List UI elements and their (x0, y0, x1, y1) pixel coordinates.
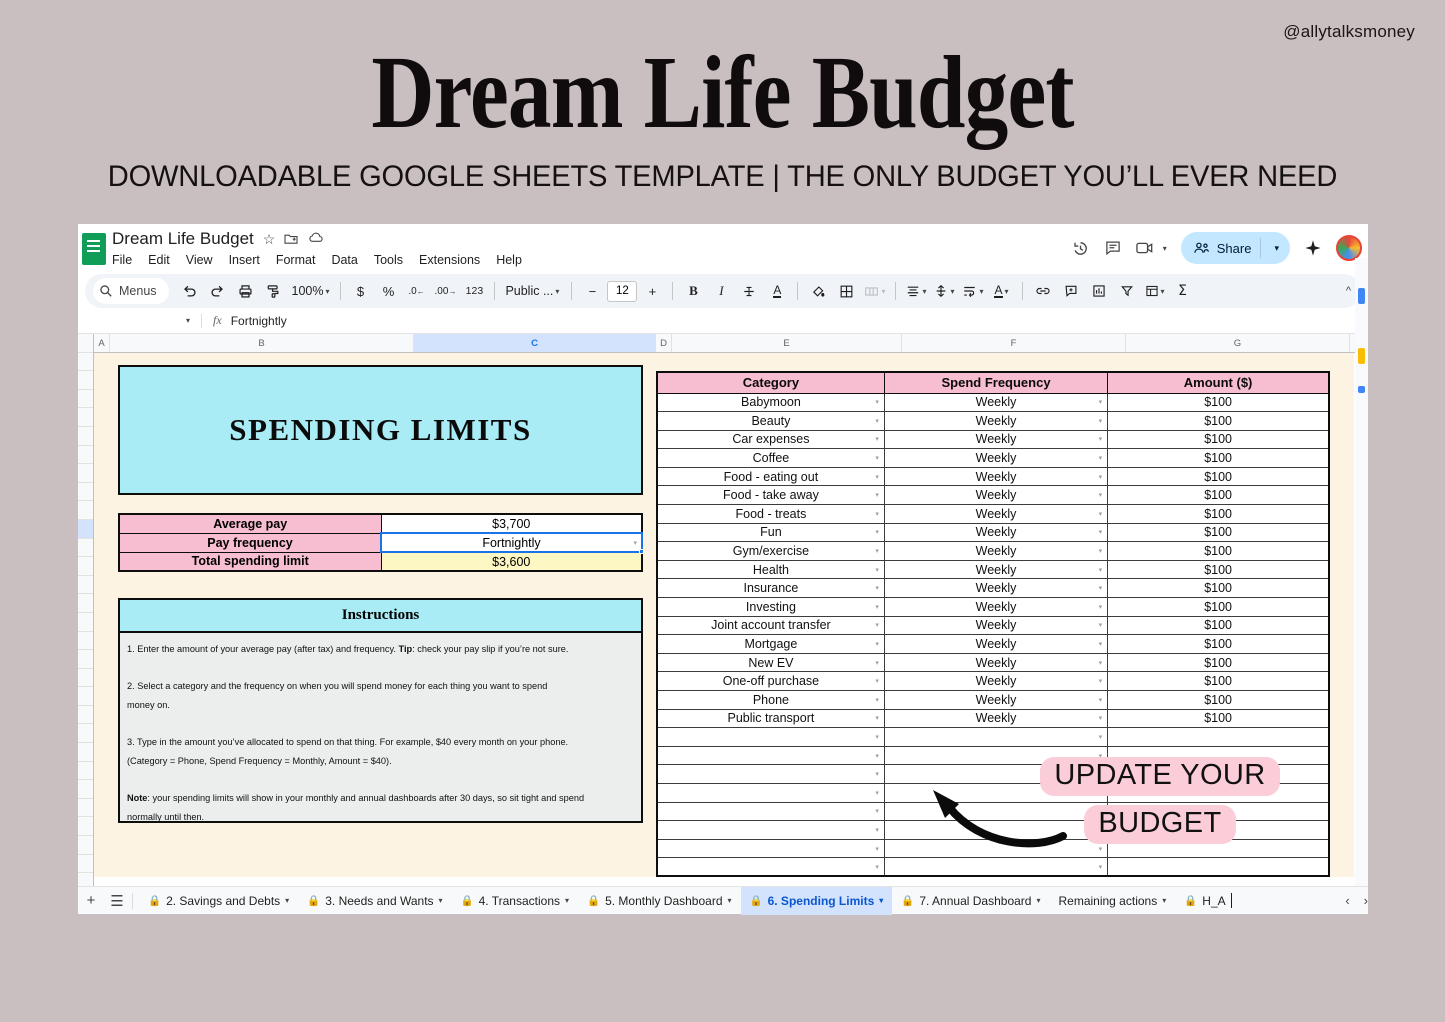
cell-amount[interactable]: $100 (1108, 542, 1329, 561)
cell-category-text: Food - treats (735, 507, 806, 521)
gemini-spark-icon[interactable] (1304, 239, 1322, 257)
chevron-down-icon-frequency[interactable]: ▾ (1099, 640, 1103, 648)
row-header[interactable] (78, 799, 93, 818)
cell-amount[interactable]: $100 (1108, 598, 1329, 617)
chevron-down-icon-category[interactable]: ▾ (875, 826, 879, 834)
chevron-down-icon-rot: ▾ (1005, 287, 1009, 296)
row-header[interactable] (78, 650, 93, 669)
sheet-tab-label: 7. Annual Dashboard (919, 894, 1031, 908)
cell-category[interactable]: Phone▾ (657, 691, 884, 710)
pay-frequency-value: Fortnightly (482, 536, 540, 550)
chevron-down-icon-payfreq[interactable]: ▾ (633, 539, 637, 547)
cell-amount[interactable]: $100 (1108, 635, 1329, 654)
minimap-rail[interactable] (1355, 258, 1368, 908)
cell-frequency[interactable]: Weekly▾ (884, 505, 1107, 524)
search-menus-label: Menus (119, 284, 157, 298)
instruction-line-1: 1. Enter the amount of your average pay … (127, 640, 634, 659)
redo-icon[interactable] (205, 278, 231, 304)
table-row[interactable]: Food - eating out▾Weekly▾$100 (657, 467, 1329, 486)
instructions-body: 1. Enter the amount of your average pay … (120, 633, 641, 827)
functions-button[interactable]: Σ (1170, 278, 1196, 304)
link-icon[interactable] (1030, 278, 1056, 304)
chevron-down-icon-frequency[interactable]: ▾ (1099, 714, 1103, 722)
sheet-tab[interactable]: 🔒5. Monthly Dashboard▾ (578, 887, 741, 915)
chevron-down-icon-category[interactable]: ▾ (875, 566, 879, 574)
cell-frequency-text: Weekly (976, 432, 1017, 446)
table-header-row: Category Spend Frequency Amount ($) (657, 372, 1329, 393)
cell-category-text: Gym/exercise (733, 544, 809, 558)
lock-icon: 🔒 (901, 894, 914, 907)
cell-category[interactable]: New EV▾ (657, 653, 884, 672)
cell-frequency[interactable]: Weekly▾ (884, 430, 1107, 449)
table-row[interactable]: Phone▾Weekly▾$100 (657, 691, 1329, 710)
toolbar-divider-4 (672, 282, 673, 300)
row-header[interactable] (78, 780, 93, 799)
col-header-f[interactable]: F (902, 334, 1126, 352)
cell-frequency[interactable]: Weekly▾ (884, 709, 1107, 728)
table-row[interactable]: Babymoon▾Weekly▾$100 (657, 393, 1329, 412)
cell-category[interactable]: Food - take away▾ (657, 486, 884, 505)
cell-category[interactable]: ▾ (657, 728, 884, 747)
chevron-down-icon-category[interactable]: ▾ (875, 473, 879, 481)
chevron-down-icon-tab[interactable]: ▾ (1162, 896, 1166, 905)
cell-frequency[interactable]: Weekly▾ (884, 412, 1107, 431)
table-row[interactable]: Mortgage▾Weekly▾$100 (657, 635, 1329, 654)
cell-category[interactable]: Babymoon▾ (657, 393, 884, 412)
cell-category[interactable]: ▾ (657, 802, 884, 821)
cell-category[interactable]: Car expenses▾ (657, 430, 884, 449)
row-header[interactable] (78, 539, 93, 558)
cell-amount[interactable]: $100 (1108, 616, 1329, 635)
name-box-caret-icon[interactable]: ▾ (186, 316, 190, 325)
zoom-level-button[interactable]: 100% ▾ (289, 278, 333, 304)
cell-frequency-text: Weekly (976, 674, 1017, 688)
cell-frequency-text: Weekly (976, 544, 1017, 558)
italic-button[interactable]: I (708, 278, 734, 304)
cell-amount[interactable]: $100 (1108, 412, 1329, 431)
pay-frequency-label: Pay frequency (119, 533, 381, 552)
table-row[interactable]: Investing▾Weekly▾$100 (657, 598, 1329, 617)
row-header[interactable] (78, 576, 93, 595)
chevron-down-icon-tab[interactable]: ▾ (285, 896, 289, 905)
table-row[interactable]: Gym/exercise▾Weekly▾$100 (657, 542, 1329, 561)
chevron-down-icon-frequency[interactable]: ▾ (1099, 417, 1103, 425)
instructions-card: Instructions 1. Enter the amount of your… (118, 598, 643, 823)
chevron-down-icon-category[interactable]: ▾ (875, 584, 879, 592)
cell-amount[interactable]: $100 (1108, 393, 1329, 412)
chevron-down-icon-category[interactable]: ▾ (875, 528, 879, 536)
chevron-down-icon-frequency[interactable]: ▾ (1099, 621, 1103, 629)
toolbar-divider-5 (797, 282, 798, 300)
strikethrough-button[interactable] (736, 278, 762, 304)
chevron-down-icon-category[interactable]: ▾ (875, 603, 879, 611)
cell-frequency[interactable]: Weekly▾ (884, 523, 1107, 542)
row-header[interactable] (78, 446, 93, 465)
pay-frequency-select[interactable]: Fortnightly ▾ (381, 533, 642, 552)
cell-frequency-text: Weekly (976, 711, 1017, 725)
chevron-down-icon-category[interactable]: ▾ (875, 863, 879, 871)
all-sheets-icon[interactable]: ☰ (104, 892, 130, 910)
cell-frequency[interactable]: Weekly▾ (884, 616, 1107, 635)
cell-amount[interactable]: $100 (1108, 709, 1329, 728)
chevron-down-icon-category[interactable]: ▾ (875, 807, 879, 815)
text-cursor (1231, 893, 1232, 908)
cell-amount[interactable]: $100 (1108, 467, 1329, 486)
cell-frequency[interactable]: Weekly▾ (884, 467, 1107, 486)
menu-format[interactable]: Format (276, 253, 316, 267)
sheets-logo-icon (82, 233, 106, 265)
font-family-select[interactable]: Public ... ▾ (502, 278, 564, 304)
sheet-tab[interactable]: Remaining actions▾ (1049, 887, 1175, 915)
chevron-down-icon-tab[interactable]: ▾ (565, 896, 569, 905)
table-row[interactable]: ▾▾ (657, 728, 1329, 747)
table-row[interactable]: ▾▾ (657, 858, 1329, 877)
star-icon[interactable]: ☆ (263, 232, 276, 246)
chevron-down-icon-frequency[interactable]: ▾ (1099, 696, 1103, 704)
chevron-down-icon-frequency[interactable]: ▾ (1099, 677, 1103, 685)
cell-amount[interactable]: $100 (1108, 579, 1329, 598)
cell-category[interactable]: One-off purchase▾ (657, 672, 884, 691)
document-title[interactable]: Dream Life Budget (112, 229, 254, 249)
chevron-down-icon-frequency[interactable]: ▾ (1099, 603, 1103, 611)
chevron-down-icon-frequency[interactable]: ▾ (1099, 584, 1103, 592)
zoom-level-label: 100% (292, 284, 324, 298)
cell-amount[interactable]: $100 (1108, 449, 1329, 468)
decrease-decimal-label: .0 (408, 286, 416, 297)
cell-frequency[interactable]: Weekly▾ (884, 393, 1107, 412)
cell-category[interactable]: ▾ (657, 765, 884, 784)
cell-category[interactable]: Fun▾ (657, 523, 884, 542)
cell-category[interactable]: Beauty▾ (657, 412, 884, 431)
row-header[interactable] (78, 613, 93, 632)
sheet-tab-label: 4. Transactions (479, 894, 560, 908)
menu-data[interactable]: Data (331, 253, 357, 267)
spending-limits-title: SPENDING LIMITS (229, 412, 531, 448)
chevron-down-icon-frequency[interactable]: ▾ (1099, 473, 1103, 481)
horizontal-align-icon[interactable]: ▾ (903, 278, 929, 304)
text-wrap-icon[interactable]: ▾ (959, 278, 986, 304)
chevron-down-icon-category[interactable]: ▾ (875, 398, 879, 406)
share-divider (1260, 238, 1261, 258)
chevron-down-icon-category[interactable]: ▾ (875, 659, 879, 667)
chevron-down-icon-valign: ▾ (950, 287, 954, 296)
col-header-d[interactable]: D (656, 334, 672, 352)
table-row[interactable]: Insurance▾Weekly▾$100 (657, 579, 1329, 598)
fill-color-icon[interactable] (805, 278, 831, 304)
format-currency-button[interactable]: $ (348, 278, 374, 304)
chevron-down-icon-category[interactable]: ▾ (875, 789, 879, 797)
cell-amount[interactable]: $100 (1108, 486, 1329, 505)
cell-frequency[interactable]: Weekly▾ (884, 560, 1107, 579)
chevron-down-icon-category[interactable]: ▾ (875, 677, 879, 685)
cell-amount[interactable]: $100 (1108, 523, 1329, 542)
formula-input[interactable]: Fortnightly (231, 314, 287, 328)
cell-category[interactable]: ▾ (657, 839, 884, 858)
cell-category[interactable]: Food - treats▾ (657, 505, 884, 524)
paint-format-icon[interactable] (261, 278, 287, 304)
cell-frequency[interactable]: Weekly▾ (884, 542, 1107, 561)
chevron-down-icon-frequency[interactable]: ▾ (1099, 566, 1103, 574)
column-headers[interactable]: A B C D E F G (94, 334, 1368, 353)
instructions-heading: Instructions (120, 600, 641, 633)
cell-amount[interactable]: $100 (1108, 560, 1329, 579)
cell-frequency-text: Weekly (976, 414, 1017, 428)
chevron-down-icon-category[interactable]: ▾ (875, 733, 879, 741)
font-size-input[interactable]: 12 (607, 281, 637, 302)
cell-category[interactable]: Mortgage▾ (657, 635, 884, 654)
cell-category[interactable]: Joint account transfer▾ (657, 616, 884, 635)
prev-tab-button[interactable]: ‹ (1345, 893, 1349, 908)
toolbar-divider-7 (1022, 282, 1023, 300)
cell-frequency[interactable]: Weekly▾ (884, 691, 1107, 710)
spending-limits-title-card: SPENDING LIMITS (118, 365, 643, 495)
increase-decimal-label: .00 (435, 286, 449, 297)
row-header[interactable] (78, 557, 93, 576)
row-header[interactable] (78, 669, 93, 688)
row-header[interactable] (78, 427, 93, 446)
table-row[interactable]: Joint account transfer▾Weekly▾$100 (657, 616, 1329, 635)
formula-divider (201, 314, 202, 328)
borders-icon[interactable] (833, 278, 859, 304)
menu-tools[interactable]: Tools (374, 253, 403, 267)
comment-icon[interactable] (1104, 239, 1122, 257)
pivot-icon[interactable]: ▾ (1142, 278, 1168, 304)
cell-amount[interactable] (1108, 728, 1329, 747)
toolbar-divider-6 (895, 282, 896, 300)
cell-category[interactable]: ▾ (657, 821, 884, 840)
chevron-down-icon-tab[interactable]: ▾ (439, 896, 443, 905)
row-header[interactable] (78, 501, 93, 520)
share-caret-icon[interactable]: ▾ (1270, 243, 1288, 254)
sheet-tab[interactable]: 🔒H_A (1175, 887, 1231, 915)
cell-frequency[interactable]: Weekly▾ (884, 598, 1107, 617)
tab-navigation: ‹ › (1345, 893, 1368, 908)
row-header[interactable] (78, 483, 93, 502)
row-headers[interactable] (78, 334, 94, 887)
row-header[interactable] (78, 762, 93, 781)
increase-decimal-button[interactable]: .00→ (432, 278, 460, 304)
row-header[interactable] (78, 687, 93, 706)
chevron-down-icon-category[interactable]: ▾ (875, 845, 879, 853)
merge-cells-icon[interactable]: ▾ (861, 278, 888, 304)
sheet-tab[interactable]: 🔒7. Annual Dashboard▾ (892, 887, 1049, 915)
table-row[interactable]: Coffee▾Weekly▾$100 (657, 449, 1329, 468)
sheet-tab[interactable]: 🔒2. Savings and Debts▾ (139, 887, 298, 915)
font-family-label: Public ... (505, 284, 553, 298)
col-header-b[interactable]: B (110, 334, 414, 352)
search-menus-button[interactable]: Menus (93, 278, 169, 304)
row-header[interactable] (78, 408, 93, 427)
undo-icon[interactable] (177, 278, 203, 304)
cell-frequency[interactable]: Weekly▾ (884, 449, 1107, 468)
chevron-down-icon-category[interactable]: ▾ (875, 547, 879, 555)
sheet-tab[interactable]: 🔒6. Spending Limits▾ (741, 887, 893, 915)
toolbar-divider-3 (571, 282, 572, 300)
cell-category[interactable]: Investing▾ (657, 598, 884, 617)
table-row[interactable]: One-off purchase▾Weekly▾$100 (657, 672, 1329, 691)
decrease-font-size-button[interactable]: − (579, 278, 605, 304)
cell-amount[interactable]: $100 (1108, 672, 1329, 691)
row-header[interactable] (78, 724, 93, 743)
cell-category-text: Investing (746, 600, 796, 614)
formula-bar: ▾ fx Fortnightly (78, 308, 1368, 334)
increase-font-size-button[interactable]: + (639, 278, 665, 304)
chevron-down-icon-category[interactable]: ▾ (875, 435, 879, 443)
table-row[interactable]: Public transport▾Weekly▾$100 (657, 709, 1329, 728)
cell-frequency[interactable]: Weekly▾ (884, 635, 1107, 654)
table-row[interactable]: Car expenses▾Weekly▾$100 (657, 430, 1329, 449)
decrease-decimal-button[interactable]: .0← (404, 278, 430, 304)
cell-category-text: Beauty (751, 414, 790, 428)
toolbar: Menus 100% ▾ $ % .0← .00→ 123 (85, 274, 1361, 308)
table-row[interactable]: Beauty▾Weekly▾$100 (657, 412, 1329, 431)
chevron-down-icon-pivot: ▾ (1161, 287, 1165, 296)
menu-bar: File Edit View Insert Format Data Tools … (112, 253, 522, 267)
menu-edit[interactable]: Edit (148, 253, 170, 267)
cell-category-text: Phone (753, 693, 789, 707)
chevron-down-icon-tab[interactable]: ▾ (1036, 896, 1040, 905)
row-header[interactable] (78, 520, 93, 539)
folder-move-icon[interactable] (284, 232, 299, 247)
row-header[interactable] (78, 334, 93, 353)
column-header-spend-frequency: Spend Frequency (884, 372, 1107, 393)
menu-view[interactable]: View (186, 253, 213, 267)
chevron-down-icon-category[interactable]: ▾ (875, 696, 879, 704)
share-button[interactable]: Share ▾ (1181, 232, 1290, 264)
table-row[interactable]: Food - take away▾Weekly▾$100 (657, 486, 1329, 505)
chevron-down-icon-tab[interactable]: ▾ (728, 896, 732, 905)
chevron-down-icon-category[interactable]: ▾ (875, 621, 879, 629)
menu-help[interactable]: Help (496, 253, 522, 267)
sheet-tab[interactable]: 🔒4. Transactions▾ (452, 887, 578, 915)
menu-file[interactable]: File (112, 253, 132, 267)
lock-icon: 🔒 (148, 894, 161, 907)
table-row[interactable]: Food - treats▾Weekly▾$100 (657, 505, 1329, 524)
format-percent-button[interactable]: % (376, 278, 402, 304)
row-header[interactable] (78, 632, 93, 651)
cloud-icon[interactable] (308, 232, 324, 246)
row-header[interactable] (78, 706, 93, 725)
cell-category-text: Car expenses (732, 432, 809, 446)
row-header[interactable] (78, 371, 93, 390)
chevron-down-icon-frequency[interactable]: ▾ (1099, 863, 1103, 871)
vertical-align-icon[interactable]: ▾ (931, 278, 957, 304)
sheet-tab[interactable]: 🔒3. Needs and Wants▾ (298, 887, 451, 915)
menu-insert[interactable]: Insert (229, 253, 260, 267)
cell-frequency[interactable]: ▾ (884, 858, 1107, 877)
chart-icon[interactable] (1086, 278, 1112, 304)
row-header[interactable] (78, 743, 93, 762)
cell-amount[interactable] (1108, 858, 1329, 877)
collapse-toolbar-icon[interactable]: ^ (1346, 285, 1351, 297)
average-pay-value[interactable]: $3,700 (381, 514, 642, 533)
chevron-down-icon-frequency[interactable]: ▾ (1099, 491, 1103, 499)
col-header-c[interactable]: C (414, 334, 656, 352)
chevron-down-icon-frequency[interactable]: ▾ (1099, 547, 1103, 555)
text-color-button[interactable]: A (764, 278, 790, 304)
cell-category[interactable]: Food - eating out▾ (657, 467, 884, 486)
chevron-down-icon-category[interactable]: ▾ (875, 640, 879, 648)
cell-category[interactable]: Gym/exercise▾ (657, 542, 884, 561)
cell-category[interactable]: Public transport▾ (657, 709, 884, 728)
comment-box-icon[interactable] (1058, 278, 1084, 304)
col-header-g[interactable]: G (1126, 334, 1350, 352)
chevron-down-icon-category[interactable]: ▾ (875, 417, 879, 425)
chevron-down-icon-frequency[interactable]: ▾ (1099, 528, 1103, 536)
row-header[interactable] (78, 594, 93, 613)
cell-frequency[interactable]: ▾ (884, 728, 1107, 747)
row-header[interactable] (78, 855, 93, 874)
cell-amount[interactable]: $100 (1108, 505, 1329, 524)
menu-extensions[interactable]: Extensions (419, 253, 480, 267)
cell-frequency[interactable]: Weekly▾ (884, 653, 1107, 672)
cell-category[interactable]: ▾ (657, 746, 884, 765)
row-header[interactable] (78, 353, 93, 372)
version-history-icon[interactable] (1071, 239, 1090, 258)
table-row[interactable]: Health▾Weekly▾$100 (657, 560, 1329, 579)
add-sheet-button[interactable]: + (78, 892, 104, 909)
table-row[interactable]: New EV▾Weekly▾$100 (657, 653, 1329, 672)
row-header[interactable] (78, 836, 93, 855)
cell-category[interactable]: ▾ (657, 783, 884, 802)
table-row[interactable]: Fun▾Weekly▾$100 (657, 523, 1329, 542)
next-tab-button[interactable]: › (1364, 893, 1368, 908)
cell-amount[interactable]: $100 (1108, 691, 1329, 710)
chevron-down-icon-frequency[interactable]: ▾ (1099, 398, 1103, 406)
cell-amount[interactable]: $100 (1108, 653, 1329, 672)
chevron-down-icon-category[interactable]: ▾ (875, 714, 879, 722)
chevron-down-icon-category[interactable]: ▾ (875, 752, 879, 760)
cell-frequency[interactable]: Weekly▾ (884, 486, 1107, 505)
more-formats-button[interactable]: 123 (461, 278, 487, 304)
chevron-down-icon-category[interactable]: ▾ (875, 510, 879, 518)
cell-amount[interactable]: $100 (1108, 430, 1329, 449)
pay-summary-table: Average pay $3,700 Pay frequency Fortnig… (118, 513, 643, 572)
cell-category[interactable]: Health▾ (657, 560, 884, 579)
col-header-a[interactable]: A (94, 334, 110, 352)
cell-frequency[interactable]: Weekly▾ (884, 579, 1107, 598)
chevron-down-icon-frequency[interactable]: ▾ (1099, 510, 1103, 518)
meet-icon[interactable]: ▾ (1136, 241, 1167, 255)
cell-category[interactable]: ▾ (657, 858, 884, 877)
chevron-down-icon-category[interactable]: ▾ (875, 491, 879, 499)
rail-marker-blue-2 (1358, 386, 1365, 393)
chevron-down-icon-category[interactable]: ▾ (875, 770, 879, 778)
cell-category-text: Babymoon (741, 395, 801, 409)
chevron-down-icon-frequency[interactable]: ▾ (1099, 659, 1103, 667)
row-header[interactable] (78, 390, 93, 409)
print-icon[interactable] (233, 278, 259, 304)
row-header[interactable] (78, 464, 93, 483)
chevron-down-icon-category[interactable]: ▾ (875, 454, 879, 462)
cell-frequency[interactable]: Weekly▾ (884, 672, 1107, 691)
row-header[interactable] (78, 817, 93, 836)
chevron-down-icon-frequency[interactable]: ▾ (1099, 435, 1103, 443)
text-rotation-icon[interactable]: A ▾ (989, 278, 1015, 304)
share-label: Share (1217, 241, 1252, 256)
filter-icon[interactable] (1114, 278, 1140, 304)
chevron-down-icon-frequency[interactable]: ▾ (1099, 733, 1103, 741)
cell-category[interactable]: Insurance▾ (657, 579, 884, 598)
tabbar-divider (132, 893, 133, 909)
chevron-down-icon-tab[interactable]: ▾ (879, 896, 883, 905)
cell-category-text: Insurance (743, 581, 798, 595)
bold-button[interactable]: B (680, 278, 706, 304)
col-header-e[interactable]: E (672, 334, 902, 352)
cell-category[interactable]: Coffee▾ (657, 449, 884, 468)
chevron-down-icon-frequency[interactable]: ▾ (1099, 454, 1103, 462)
chevron-down-icon-merge: ▾ (881, 287, 885, 296)
